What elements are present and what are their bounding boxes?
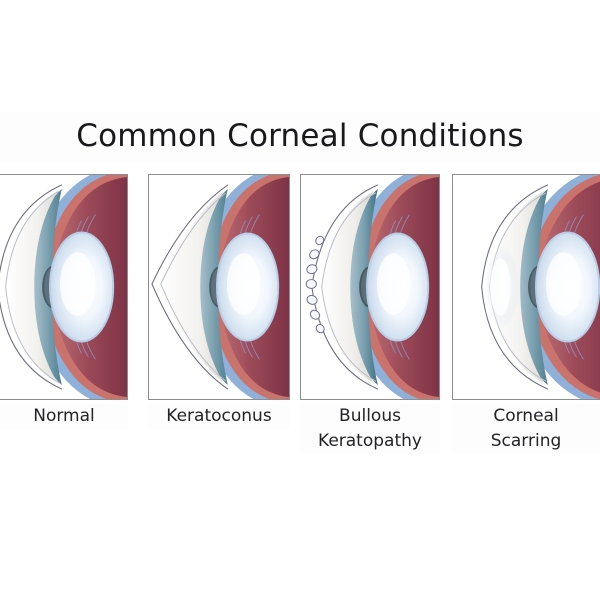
eye-cross-section-normal [0, 175, 127, 399]
panel-label-normal: Normal [0, 404, 128, 429]
panel-bullous-keratopathy[interactable] [300, 174, 440, 400]
eye-cross-section-bullous-keratopathy [301, 175, 439, 399]
panel-label-line: Scarring [452, 429, 600, 454]
panel-label-corneal-scarring: Corneal Scarring [452, 404, 600, 454]
figure-canvas: Common Corneal Conditions [0, 0, 600, 600]
panel-label-row: Normal Keratoconus Bullous Keratopathy C… [0, 404, 600, 466]
eye-cross-section-corneal-scarring [453, 175, 600, 399]
panel-label-line: Normal [0, 404, 128, 429]
panel-label-bullous-keratopathy: Bullous Keratopathy [300, 404, 440, 454]
panel-label-line: Bullous [300, 404, 440, 429]
lens-highlight [60, 252, 96, 315]
lens-highlight [546, 252, 582, 315]
panel-normal[interactable] [0, 174, 128, 400]
lens-highlight [227, 253, 261, 314]
lens-highlight [377, 253, 411, 314]
panel-label-keratoconus: Keratoconus [148, 404, 290, 429]
panel-label-line: Corneal [452, 404, 600, 429]
panel-keratoconus[interactable] [148, 174, 290, 400]
panel-label-line: Keratopathy [300, 429, 440, 454]
eye-cross-section-keratoconus [149, 175, 289, 399]
panel-corneal-scarring[interactable] [452, 174, 600, 400]
panel-row [0, 174, 600, 400]
page-title: Common Corneal Conditions [0, 118, 600, 154]
figure-title-banner: Common Corneal Conditions [0, 112, 600, 162]
panel-label-line: Keratoconus [148, 404, 290, 429]
